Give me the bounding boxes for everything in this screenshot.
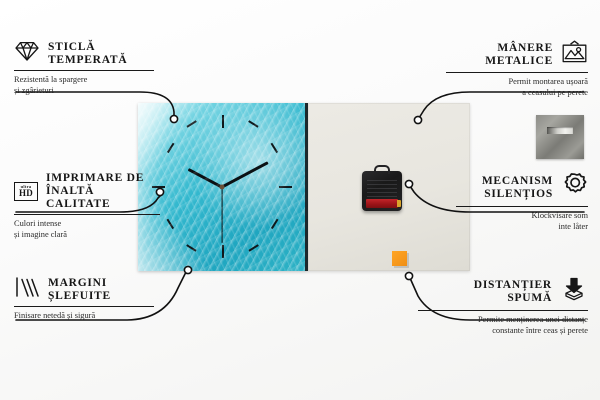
- down-arrow-stack-icon: [560, 277, 588, 307]
- gear-icon: [561, 172, 588, 203]
- feature-description: Permit montarea ușoară a ceasului pe per…: [446, 77, 588, 98]
- feature-title: DISTANȚIER SPUMĂ: [474, 279, 552, 305]
- feature-tempered-glass: STICLĂ TEMPERATĂ Rezistentă la spargere …: [14, 40, 154, 96]
- divider: [14, 214, 160, 215]
- feature-description: Culori intense și imagine clară: [14, 219, 160, 240]
- product-feature-infographic: STICLĂ TEMPERATĂ Rezistentă la spargere …: [0, 0, 600, 400]
- divider: [14, 70, 154, 71]
- feature-description: Permite menținerea unei distanțe constan…: [418, 315, 588, 336]
- feature-title: IMPRIMARE DE ÎNALTĂ CALITATE: [46, 172, 160, 211]
- connector-node-silent-mechanism: [405, 180, 412, 187]
- polished-edge-icon: [14, 277, 40, 303]
- clock-hub: [219, 185, 224, 190]
- diamond-icon: [14, 40, 40, 67]
- ultra-hd-icon: ultra HD: [14, 182, 38, 201]
- connector-node-foam-spacer: [405, 272, 412, 279]
- connector-node-metal-handles: [414, 116, 421, 123]
- divider: [456, 206, 588, 207]
- feature-title: MARGINI ȘLEFUITE: [48, 277, 111, 303]
- picture-hanger-icon: [561, 40, 588, 69]
- feature-foam-spacer: DISTANȚIER SPUMĂ Permite menținerea unei…: [418, 277, 588, 336]
- feature-polished-edges: MARGINI ȘLEFUITE Finisare netedă și sigu…: [14, 277, 154, 322]
- feature-silent-mechanism: MECANISM SILENȚIOS Klockvisare som inte …: [456, 172, 588, 232]
- feature-description: Klockvisare som inte låter: [456, 211, 588, 232]
- connector-node-polished-edges: [184, 266, 191, 273]
- divider: [446, 72, 588, 73]
- ultra-hd-badge-bottom: HD: [19, 189, 33, 198]
- feature-title: MÂNERE METALICE: [485, 42, 553, 68]
- connector-node-tempered-glass: [170, 115, 177, 122]
- feature-metal-handles: MÂNERE METALICE Permit montarea ușoară a…: [446, 40, 588, 98]
- divider: [418, 310, 588, 311]
- feature-title: STICLĂ TEMPERATĂ: [48, 41, 127, 67]
- feature-title: MECANISM SILENȚIOS: [482, 175, 553, 201]
- feature-hd-print: ultra HD IMPRIMARE DE ÎNALTĂ CALITATE Cu…: [14, 172, 160, 240]
- feature-description: Finisare netedă și sigură: [14, 311, 154, 322]
- feature-description: Rezistentă la spargere și zgârieturi: [14, 75, 154, 96]
- divider: [14, 306, 154, 307]
